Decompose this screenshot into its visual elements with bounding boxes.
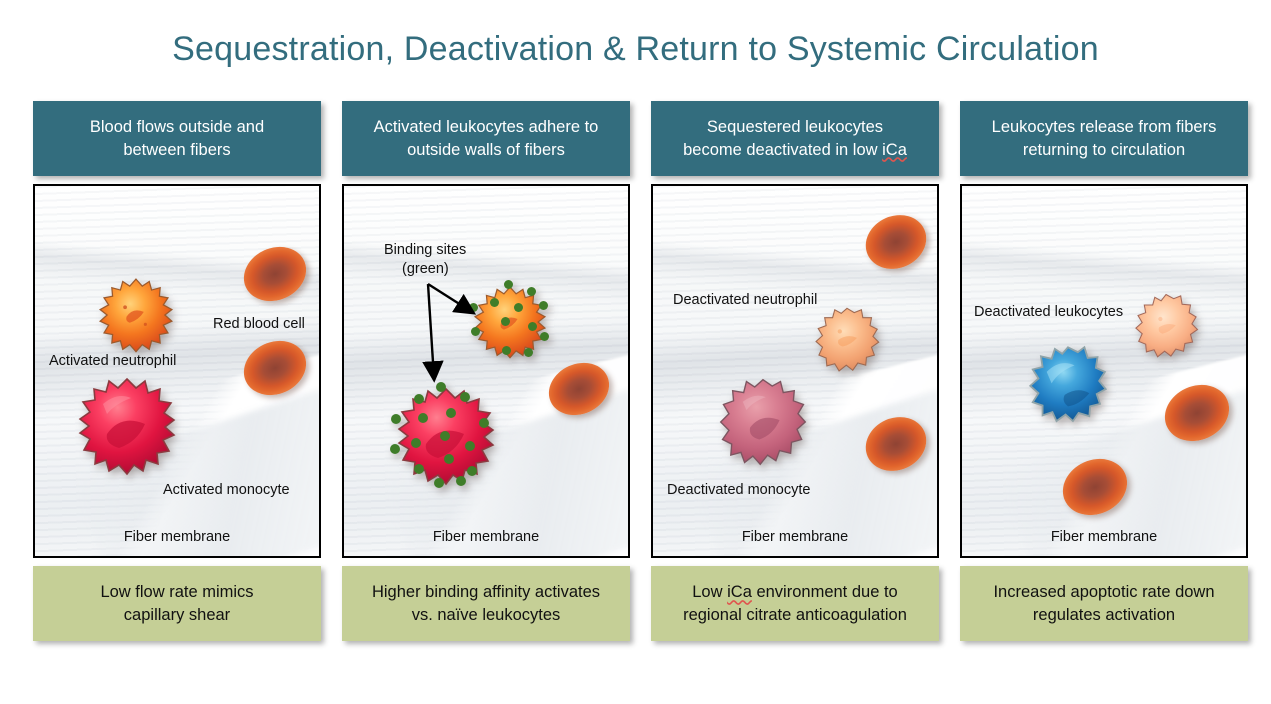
label-binding-sites-line1: Binding sites [384,242,466,259]
panel-4-figure: Deactivated leukocytes Fiber membrane [960,184,1248,558]
panel-4-header-line2: returning to circulation [992,139,1217,161]
panel-2-figure: Binding sites (green) Fiber membrane [342,184,630,558]
panel-blood-flows: Blood flows outside and between fibers [33,101,321,641]
label-fiber-membrane: Fiber membrane [344,529,628,546]
panel-3-header-line2: become deactivated in low iCa [683,139,907,161]
panel-3-footer-line2: regional citrate anticoagulation [683,604,907,626]
panel-4-footer-line2: regulates activation [993,604,1214,626]
panel-1-header-line1: Blood flows outside and [90,116,264,138]
panel-2-footer: Higher binding affinity activates vs. na… [342,566,630,641]
panel-leukocytes-adhere: Activated leukocytes adhere to outside w… [342,101,630,641]
panel-1-figure: Red blood cell Activated neutrophil Acti… [33,184,321,558]
panel-3-footer: Low iCa environment due to regional citr… [651,566,939,641]
panel-1-footer: Low flow rate mimics capillary shear [33,566,321,641]
activated-monocyte [77,376,177,476]
deactivated-monocyte [717,376,809,468]
apoptotic-leukocyte-blue [1024,344,1112,426]
panel-sequestered-deactivated: Sequestered leukocytes become deactivate… [651,101,939,641]
panel-2-header-line2: outside walls of fibers [374,139,599,161]
panel-3-footer-line1-pre: Low [692,583,727,601]
label-fiber-membrane: Fiber membrane [962,529,1246,546]
panel-leukocytes-release: Leukocytes release from fibers returning… [960,101,1248,641]
panel-grid: Blood flows outside and between fibers [33,101,1248,641]
label-deactivated-leukocytes: Deactivated leukocytes [974,304,1123,321]
panel-3-header-line2-text: become deactivated in low [683,141,882,159]
panel-1-footer-line2: capillary shear [100,604,253,626]
panel-3-header: Sequestered leukocytes become deactivate… [651,101,939,176]
panel-4-footer-line1: Increased apoptotic rate down [993,581,1214,603]
label-binding-sites-line2: (green) [402,261,449,278]
panel-3-footer-misspelled-term: iCa [727,583,752,601]
panel-3-figure: Deactivated neutrophil Deactivated monoc… [651,184,939,558]
deactivated-neutrophil [811,304,883,376]
label-deactivated-neutrophil: Deactivated neutrophil [673,292,817,309]
label-fiber-membrane: Fiber membrane [653,529,937,546]
panel-4-header-line1: Leukocytes release from fibers [992,116,1217,138]
panel-3-footer-line1-post: environment due to [752,583,898,601]
panel-1-header-line2: between fibers [90,139,264,161]
panel-3-footer-line1: Low iCa environment due to [683,581,907,603]
label-activated-monocyte: Activated monocyte [163,482,290,499]
panel-2-footer-line2: vs. naïve leukocytes [372,604,600,626]
panel-2-footer-line1: Higher binding affinity activates [372,581,600,603]
panel-1-footer-line1: Low flow rate mimics [100,581,253,603]
page-title: Sequestration, Deactivation & Return to … [0,30,1271,69]
panel-3-header-line1: Sequestered leukocytes [683,116,907,138]
panel-3-header-misspelled-term: iCa [882,141,907,159]
label-fiber-membrane: Fiber membrane [35,529,319,546]
label-activated-neutrophil: Activated neutrophil [49,353,176,370]
label-red-blood-cell: Red blood cell [213,316,305,333]
activated-neutrophil [97,276,175,354]
panel-4-header: Leukocytes release from fibers returning… [960,101,1248,176]
label-deactivated-monocyte: Deactivated monocyte [667,482,810,499]
panel-2-header: Activated leukocytes adhere to outside w… [342,101,630,176]
panel-2-header-line1: Activated leukocytes adhere to [374,116,599,138]
deactivated-leukocyte-orange [1130,291,1202,361]
panel-1-header: Blood flows outside and between fibers [33,101,321,176]
panel-4-footer: Increased apoptotic rate down regulates … [960,566,1248,641]
